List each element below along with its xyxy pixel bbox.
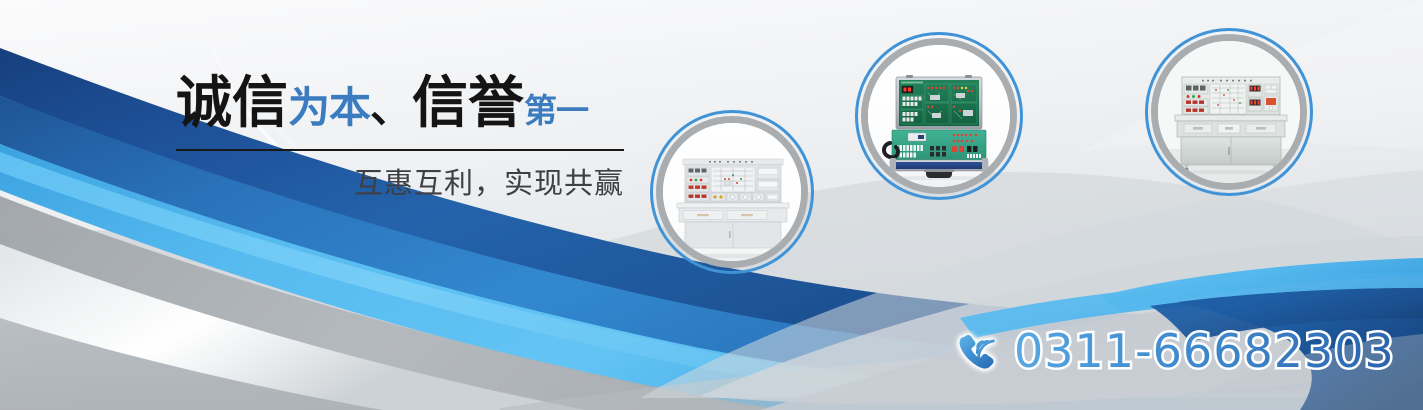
circle-2-photo	[868, 45, 1010, 187]
headline-separator: 、	[370, 83, 412, 132]
contact-block[interactable]: 0311-66682303 0311-66682303	[952, 325, 1395, 377]
subtitle: 互惠互利，实现共赢	[176, 165, 624, 201]
product-circle-2[interactable]	[855, 32, 1023, 200]
phone-call-icon	[952, 327, 1000, 375]
circle-1-photo	[663, 123, 801, 261]
title-divider-rule	[176, 149, 624, 151]
headline-part-4: 第一	[524, 91, 588, 130]
headline-part-2: 为本	[288, 83, 370, 132]
page-title: 诚信为本、信誉第一	[176, 72, 628, 143]
headline-part-3: 信誉	[412, 71, 524, 136]
headline-block: 诚信为本、信誉第一 互惠互利，实现共赢	[176, 72, 628, 201]
circle-3-photo	[1158, 41, 1300, 183]
product-circle-1[interactable]	[650, 110, 814, 274]
product-circle-3[interactable]	[1145, 28, 1313, 196]
headline-part-1: 诚信	[176, 71, 288, 136]
promotional-banner: 诚信为本、信誉第一 互惠互利，实现共赢	[0, 0, 1423, 410]
phone-number[interactable]: 0311-66682303	[1014, 324, 1395, 378]
